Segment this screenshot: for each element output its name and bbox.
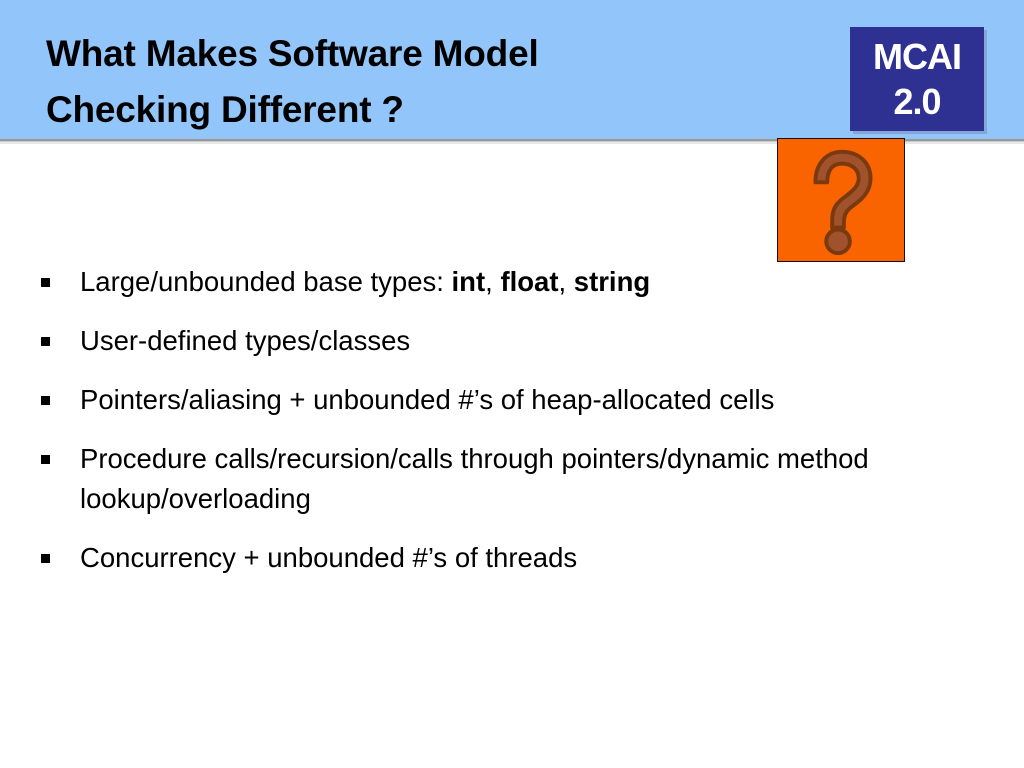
list-item-text: Procedure calls/recursion/calls through … [80, 443, 869, 514]
slide-header-band: What Makes Software Model Checking Diffe… [0, 0, 1024, 139]
square-bullet-icon [41, 396, 50, 405]
bullet-list: Large/unbounded base types: int, float, … [34, 262, 974, 578]
slide-canvas: What Makes Software Model Checking Diffe… [0, 0, 1024, 768]
list-item-text: Concurrency + unbounded #’s of threads [80, 542, 577, 573]
list-item-text: Large/unbounded base types: int, float, … [80, 266, 650, 297]
question-mark-icon [778, 139, 904, 261]
list-item: Large/unbounded base types: int, float, … [34, 262, 974, 302]
square-bullet-icon [41, 278, 50, 287]
list-item: User-defined types/classes [34, 321, 974, 361]
list-item-text: User-defined types/classes [80, 325, 410, 356]
list-item: Concurrency + unbounded #’s of threads [34, 538, 974, 578]
list-item: Procedure calls/recursion/calls through … [34, 439, 974, 519]
square-bullet-icon [41, 455, 50, 464]
mcai-logo-line1: MCAI [850, 27, 984, 75]
page-title: What Makes Software Model Checking Diffe… [46, 26, 746, 138]
list-item: Pointers/aliasing + unbounded #’s of hea… [34, 380, 974, 420]
question-mark-image [777, 138, 905, 262]
mcai-logo: MCAI 2.0 [850, 27, 984, 131]
square-bullet-icon [41, 554, 50, 563]
square-bullet-icon [41, 337, 50, 346]
mcai-logo-line2: 2.0 [850, 75, 984, 120]
list-item-text: Pointers/aliasing + unbounded #’s of hea… [80, 384, 774, 415]
